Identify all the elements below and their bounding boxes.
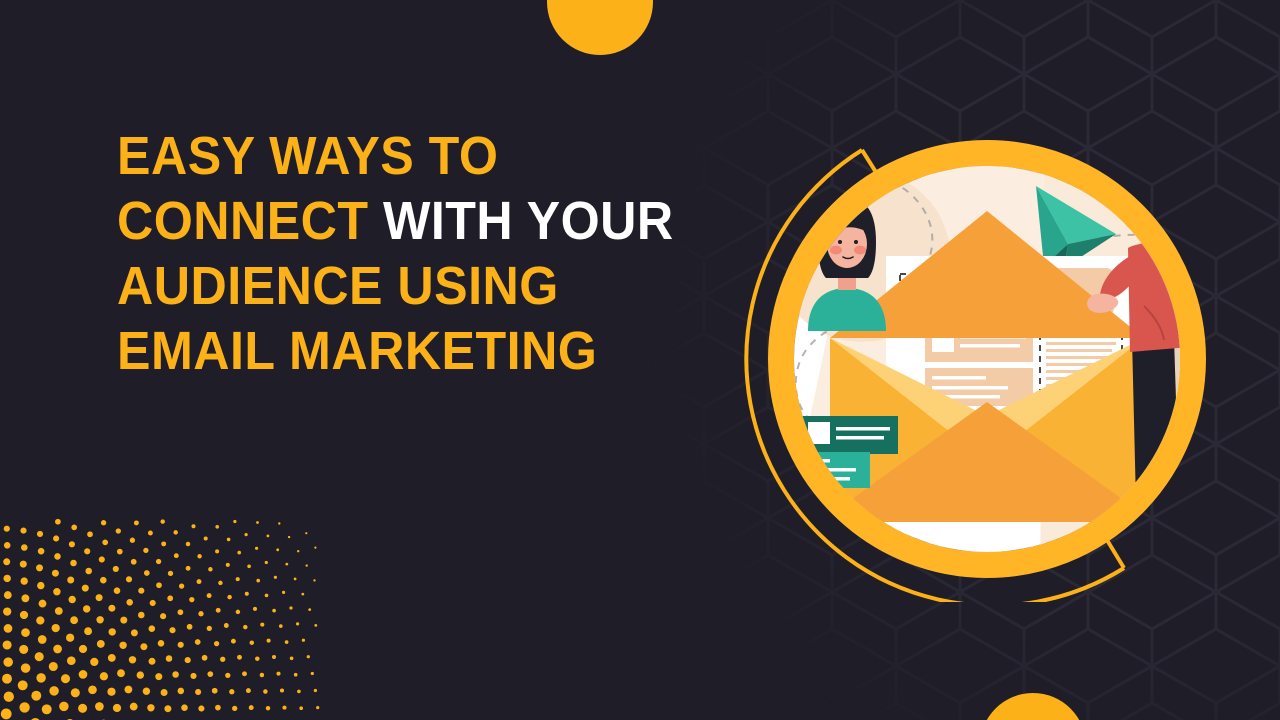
headline-line-4: EMAIL MARKETING — [117, 319, 694, 384]
green-notification-card-1 — [802, 416, 898, 454]
man-hair — [1136, 174, 1186, 206]
headline-line-3: AUDIENCE USING — [117, 254, 694, 319]
headline-line-2-white: WITH YOUR — [383, 191, 674, 251]
headline-line-2-yellow: CONNECT — [117, 191, 383, 251]
headline-line-2: CONNECT WITH YOUR — [117, 189, 694, 254]
email-marketing-illustration — [744, 116, 1230, 602]
headline-block: EASY WAYS TO CONNECT WITH YOUR AUDIENCE … — [117, 124, 737, 384]
headline-line-1: EASY WAYS TO — [117, 124, 694, 189]
email-marketing-banner: EASY WAYS TO CONNECT WITH YOUR AUDIENCE … — [0, 0, 1280, 720]
